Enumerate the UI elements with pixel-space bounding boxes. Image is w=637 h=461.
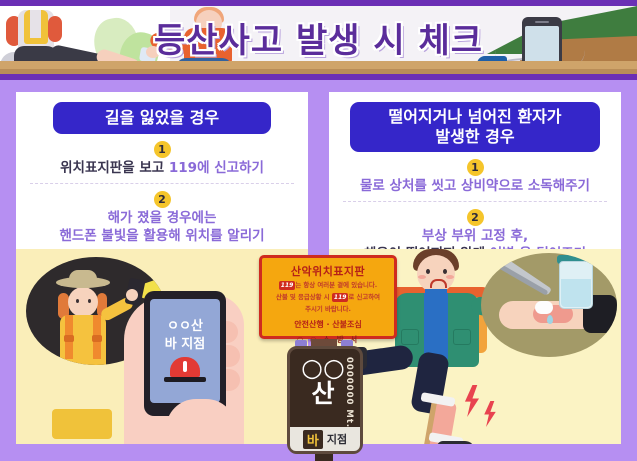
signpost-point-row: 바 지점 bbox=[290, 427, 360, 451]
yellow-object bbox=[52, 409, 112, 439]
wound-care-inset bbox=[481, 253, 617, 357]
signpost-mountain-code: 0000000 Mt. bbox=[344, 357, 354, 428]
step-text-1-right: 물로 상처를 씻고 상비약으로 소독해주기 bbox=[329, 177, 621, 195]
pain-bolt-icon-2 bbox=[481, 401, 499, 427]
jacket-pocket-right bbox=[453, 329, 471, 345]
content-board: 길을 잃었을 경우 1 위치표지판을 보고 119에 신고하기 2 해가 졌을 … bbox=[16, 92, 621, 444]
backpack-buckle-left bbox=[64, 335, 74, 342]
signpost-point-code: 바 bbox=[303, 430, 323, 449]
step-badge-1-right: 1 bbox=[467, 159, 484, 176]
step-divider-right bbox=[343, 201, 607, 202]
patient-cheek-left bbox=[418, 275, 426, 279]
step-1-right-accent: 물로 상처를 씻고 상비약으로 소독해주기 bbox=[360, 178, 590, 194]
step-text-2: 해가 졌을 경우에는 핸드폰 불빛을 활용해 위치를 알리기 bbox=[16, 209, 308, 245]
step-2-line-1: 해가 졌을 경우에는 bbox=[22, 209, 302, 227]
sign-information-board: 산악위치표지판 119는 항상 여러분 곁에 있습니다. 산불 및 응급상황 시… bbox=[259, 255, 397, 339]
step-2-right-line-1: 부상 부위 고정 후, bbox=[335, 227, 615, 245]
tweezers-icon-2 bbox=[498, 263, 549, 295]
phone-screen-line-1: ㅇㅇ산 bbox=[150, 315, 220, 334]
mountain-location-sign: 산악위치표지판 119는 항상 여러분 곁에 있습니다. 산불 및 응급상황 시… bbox=[259, 255, 411, 461]
phone-app-screen[interactable]: ㅇㅇ산 바 지점 bbox=[150, 299, 220, 403]
heading-line-2: 발생한 경우 bbox=[356, 127, 594, 147]
sign-119-badge-2: 119 bbox=[332, 293, 349, 302]
sign-body-line-1: 119는 항상 여러분 곁에 있습니다. bbox=[262, 281, 394, 291]
hiker-hat-crown bbox=[69, 270, 97, 284]
panel-fallen-patient-heading: 떨어지거나 넘어진 환자가 발생한 경우 bbox=[350, 102, 600, 152]
step-badge-1: 1 bbox=[154, 141, 171, 158]
thumb bbox=[166, 399, 236, 444]
pain-bolt-icon-1 bbox=[461, 385, 483, 417]
step-badge-2: 2 bbox=[154, 191, 171, 208]
heading-line-1: 떨어지거나 넘어진 환자가 bbox=[356, 107, 594, 127]
phone-speaker bbox=[535, 21, 549, 23]
hiker-hand bbox=[126, 289, 138, 301]
sign-line-2-before: 산불 및 응급상황 시 bbox=[276, 293, 332, 301]
step-divider bbox=[30, 183, 294, 184]
helper-hand bbox=[146, 46, 160, 58]
phone-mockup[interactable]: ㅇㅇ산 바 지점 bbox=[144, 291, 226, 416]
step-2-line-2: 핸드폰 불빛을 활용해 위치를 알리기 bbox=[22, 227, 302, 245]
seated-person-vest-inner bbox=[30, 10, 41, 38]
patient-shirt bbox=[424, 293, 448, 359]
step-badge-2-right: 2 bbox=[467, 209, 484, 226]
step-1-accent: 119에 신고하기 bbox=[169, 160, 264, 176]
sign-line-2-after: 로 신고하여 bbox=[348, 293, 380, 301]
hiker-head bbox=[68, 287, 98, 317]
water-drop-icon bbox=[547, 315, 553, 324]
cotton-swab-icon bbox=[535, 301, 553, 314]
sign-line-1-text: 는 항상 여러분 곁에 있습니다. bbox=[295, 281, 377, 289]
seated-person-arm-2 bbox=[48, 16, 62, 42]
sign-119-badge-1: 119 bbox=[279, 281, 296, 290]
sign-body-line-3: 주시기 바랍니다. bbox=[262, 305, 394, 315]
signpost-mountain-name: ○○산 bbox=[300, 355, 346, 408]
step-1-plain: 위치표지판을 보고 bbox=[60, 160, 169, 176]
patient-mouth-frown bbox=[430, 279, 447, 288]
panel-lost-way-heading: 길을 잃었을 경우 bbox=[53, 102, 271, 134]
header-illustration-strip bbox=[0, 6, 637, 74]
sign-title: 산악위치표지판 bbox=[262, 263, 394, 279]
sign-body-line-2: 산불 및 응급상황 시 119로 신고하여 bbox=[262, 293, 394, 303]
signpost-point-label: 지점 bbox=[327, 431, 347, 447]
header-bottom-strip bbox=[0, 74, 637, 80]
hiker-eye-left bbox=[76, 299, 79, 303]
step-text-1: 위치표지판을 보고 119에 신고하기 bbox=[16, 159, 308, 177]
backpack-buckle-right bbox=[92, 335, 102, 342]
phone-screen-bar bbox=[164, 377, 206, 382]
hiker-eye-right bbox=[88, 299, 91, 303]
phone-screen-line-2: 바 지점 bbox=[150, 333, 220, 352]
signpost-name-plate: ○○산 0000000 Mt. 바 지점 bbox=[287, 346, 363, 454]
patient-eye-right bbox=[443, 269, 447, 274]
header-banner: 등산사고 발생 시 체크 bbox=[0, 0, 637, 80]
patient-cheek-right bbox=[446, 275, 454, 279]
sign-slogan: 안전산행 · 산불조심 bbox=[262, 319, 394, 330]
bottle-liquid bbox=[561, 279, 591, 307]
emergency-button-indicator bbox=[183, 361, 187, 372]
patient-eye-left bbox=[426, 269, 430, 274]
infographic-poster: 등산사고 발생 시 체크 길을 잃었을 경우 1 위치표지판을 보고 119에 … bbox=[0, 0, 637, 461]
